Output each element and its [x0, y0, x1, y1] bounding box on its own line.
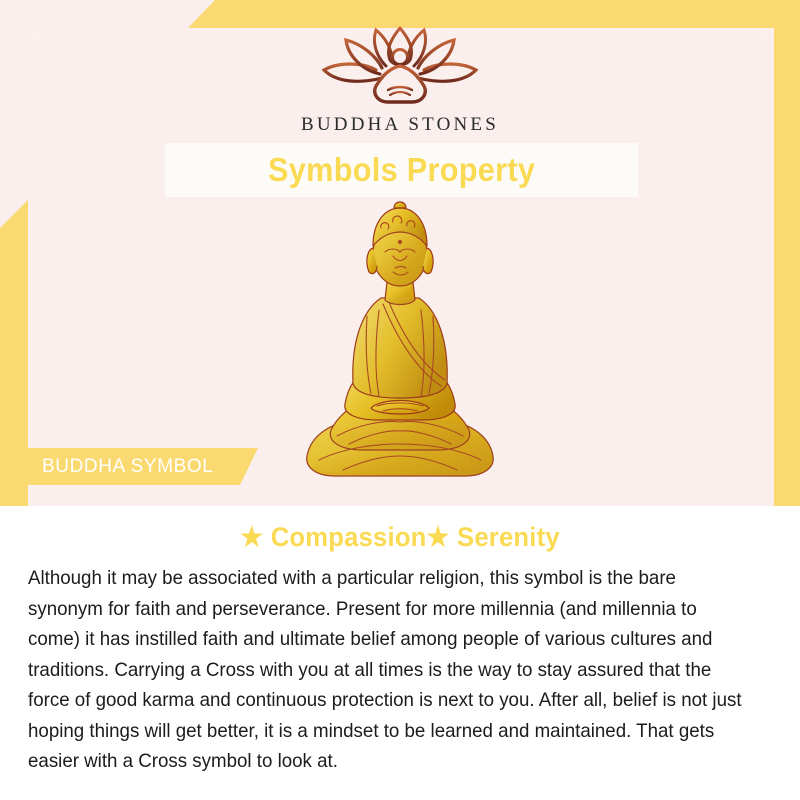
- brand-block: BUDDHA STONES: [0, 26, 800, 136]
- content-panel: ★ Compassion★ Serenity Although it may b…: [0, 506, 800, 800]
- infographic-page: BUDDHA STONES Symbols Property: [0, 0, 800, 800]
- title-banner: Symbols Property: [165, 143, 638, 197]
- symbol-tag-banner: BUDDHA SYMBOL: [18, 448, 258, 485]
- golden-seated-buddha-statue: [297, 198, 503, 488]
- lotus-meditation-figure-icon: [312, 26, 488, 108]
- content-headline: ★ Compassion★ Serenity: [20, 522, 780, 553]
- page-title: Symbols Property: [268, 151, 535, 189]
- content-paragraph: Although it may be associated with a par…: [28, 563, 746, 777]
- decorative-frame-top: [0, 0, 800, 28]
- brand-name: BUDDHA STONES: [301, 114, 499, 136]
- symbol-tag-label: BUDDHA SYMBOL: [42, 456, 213, 478]
